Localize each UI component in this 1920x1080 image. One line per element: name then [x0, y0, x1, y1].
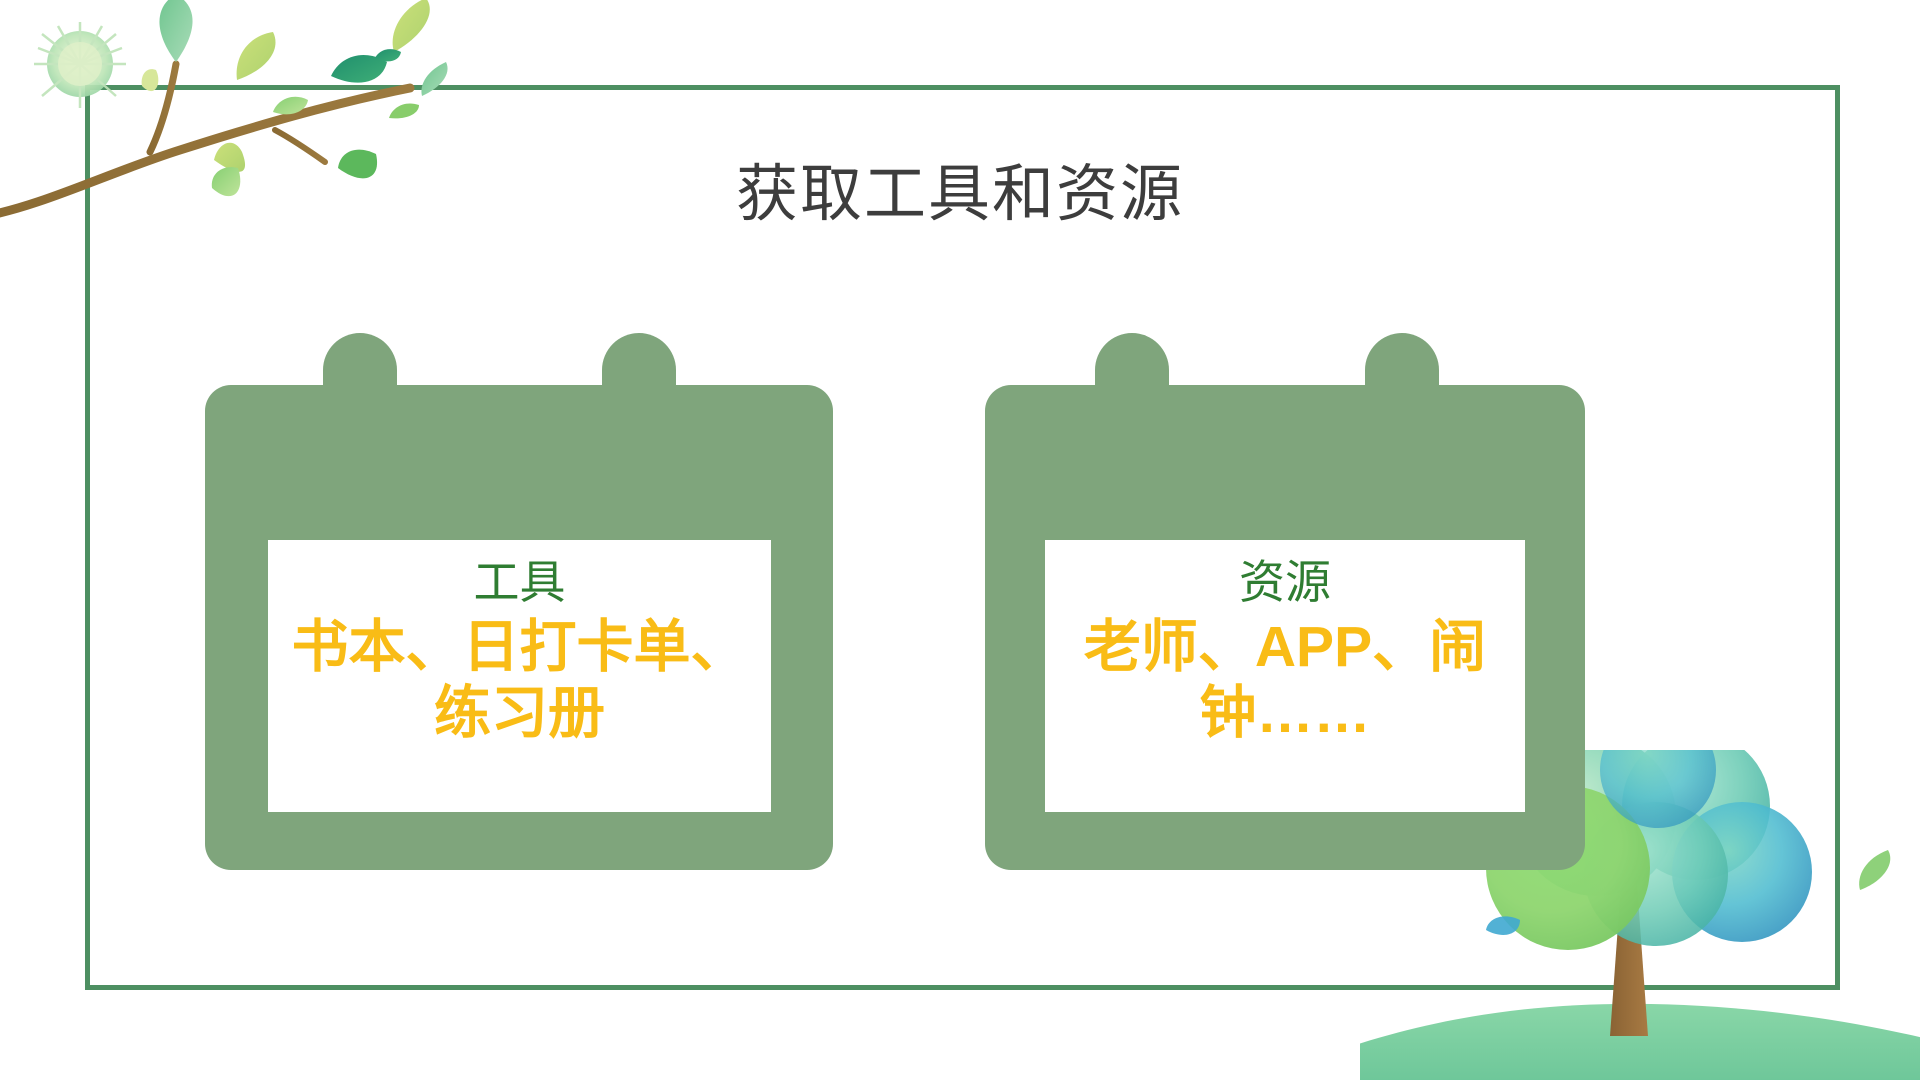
card-sheet-resources: 资源 老师、APP、闹钟……: [1045, 540, 1525, 812]
calendar-rings-right: [985, 333, 1585, 393]
card-heading-resources: 资源: [1045, 554, 1525, 612]
card-text-tools: 书本、日打卡单、练习册: [268, 614, 771, 746]
card-sheet-tools: 工具 书本、日打卡单、练习册: [268, 540, 771, 812]
slide-canvas: 获取工具和资源 工具 书本、日打卡单、练习册 资源 老师、APP、闹钟……: [0, 0, 1920, 1080]
card-heading-tools: 工具: [268, 554, 771, 612]
card-text-resources: 老师、APP、闹钟……: [1045, 614, 1525, 746]
card-resources[interactable]: 资源 老师、APP、闹钟……: [985, 333, 1585, 870]
calendar-rings-left: [205, 333, 833, 393]
card-tools[interactable]: 工具 书本、日打卡单、练习册: [205, 333, 833, 870]
page-title: 获取工具和资源: [0, 160, 1920, 231]
